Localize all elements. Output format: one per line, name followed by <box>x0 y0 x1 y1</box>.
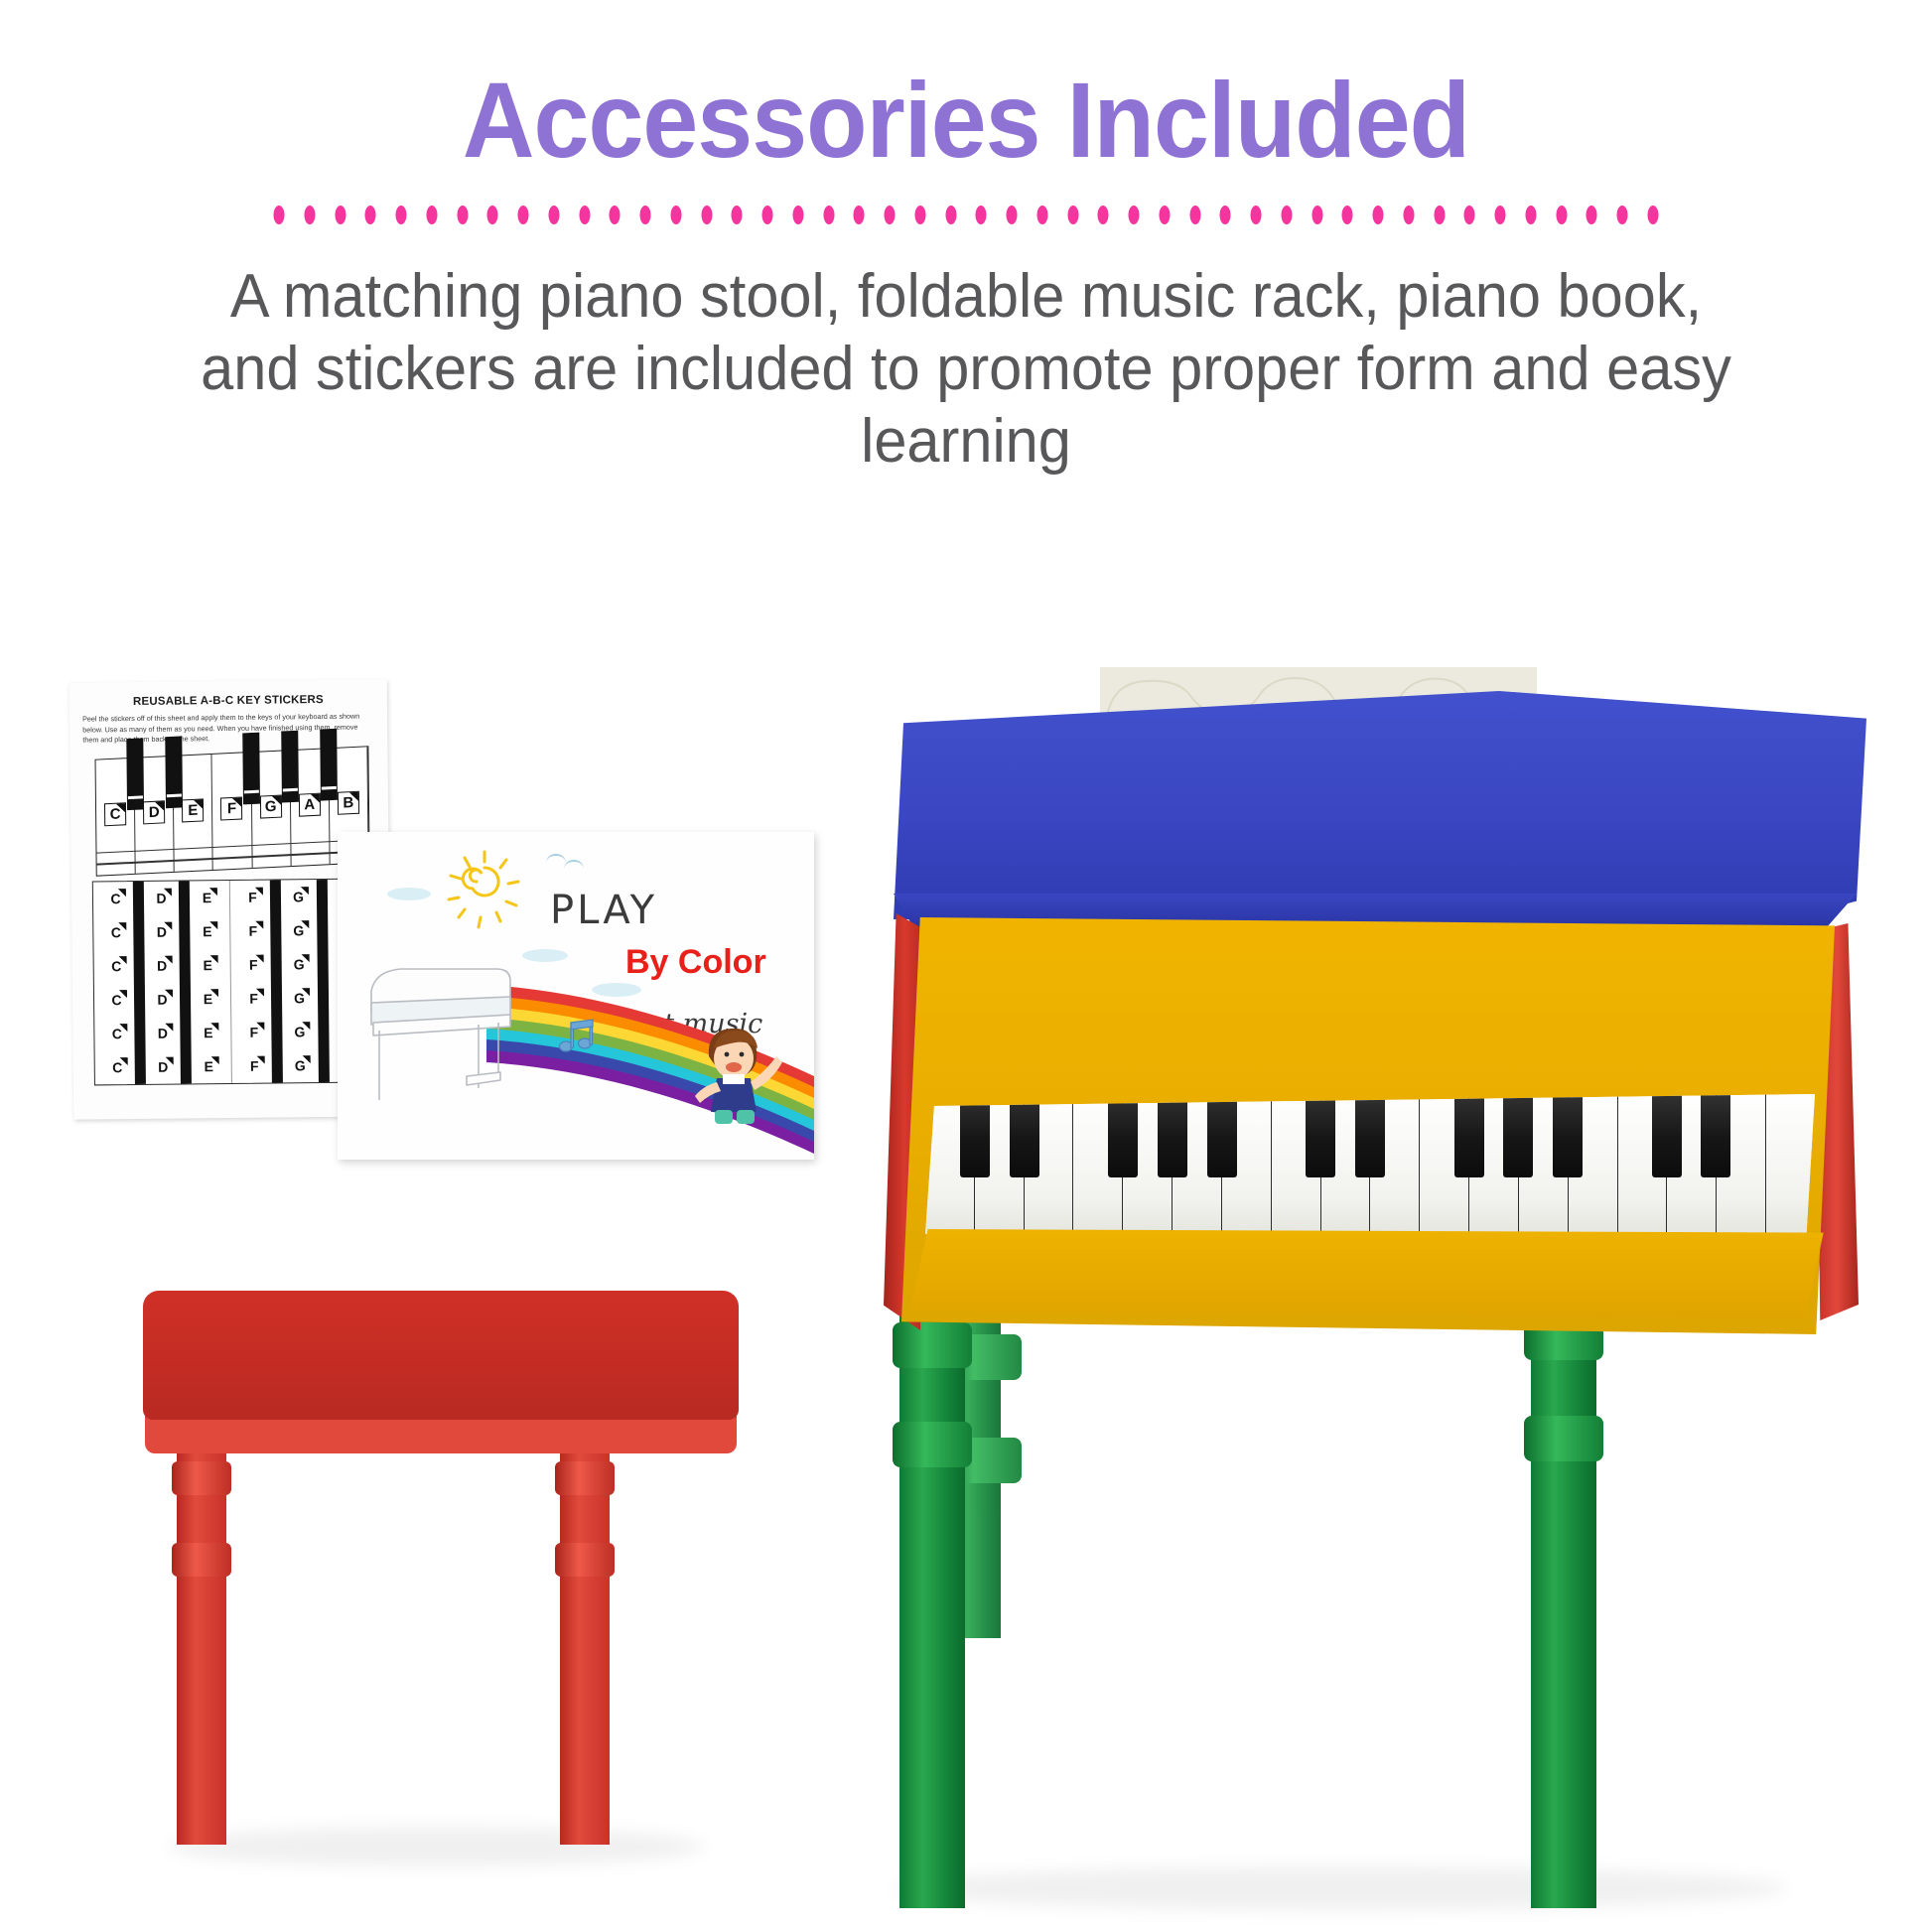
stool-seat <box>143 1291 739 1420</box>
divider-dot <box>518 206 529 224</box>
divider-dot <box>1495 206 1506 224</box>
divider-dot <box>1098 206 1109 224</box>
piano-black-key[interactable] <box>1158 1094 1187 1177</box>
sticker-grid: CCCCCCDDDDDDEEEEEEFFFFFFGGGGGGAAAAAA <box>92 879 370 1086</box>
sticker-cell: G <box>277 981 322 1015</box>
sticker-cell: G <box>276 913 321 947</box>
diagram-black-key <box>126 738 144 810</box>
key-sticker: D <box>153 1057 173 1077</box>
stool-leg <box>560 1448 610 1845</box>
piano-black-key[interactable] <box>1207 1094 1237 1177</box>
key-sticker: E <box>199 1023 218 1042</box>
divider-dot <box>1189 206 1200 224</box>
cloud-icon <box>387 888 431 900</box>
key-sticker: C <box>105 889 125 908</box>
divider-dot <box>1036 206 1047 224</box>
divider-dot <box>1129 206 1140 224</box>
divider-dot <box>701 206 712 224</box>
divider-dot <box>945 206 956 224</box>
sticker-cell: D <box>141 1049 186 1083</box>
music-book-cover: PLAY By Color My first music book <box>338 832 814 1160</box>
sticker-cell: C <box>94 983 139 1017</box>
divider-dot <box>1617 206 1628 224</box>
sticker-cell: F <box>231 981 276 1015</box>
sticker-cell: G <box>278 1048 323 1082</box>
sticker-cell: C <box>95 1050 140 1084</box>
key-sticker: E <box>198 955 217 975</box>
key-sticker: F <box>244 1056 264 1076</box>
key-sticker: D <box>152 922 172 942</box>
page-title: Accessories Included <box>68 58 1864 182</box>
piano-black-key[interactable] <box>960 1094 990 1177</box>
key-sticker: E <box>198 989 217 1009</box>
sticker-cell: F <box>231 947 276 981</box>
diagram-key-label: C <box>104 802 126 826</box>
piano-black-key[interactable] <box>1355 1094 1385 1177</box>
sticker-cell: G <box>276 880 321 913</box>
sticker-cell: D <box>139 914 184 948</box>
bird-icon <box>564 860 584 869</box>
sticker-cell: F <box>232 1048 277 1082</box>
diagram-black-key <box>281 731 299 803</box>
sticker-cell: D <box>140 982 185 1016</box>
divider-dot <box>976 206 987 224</box>
key-sticker: C <box>107 1024 127 1043</box>
divider-dot <box>1556 206 1567 224</box>
key-sticker: D <box>153 1024 173 1043</box>
key-sticker: E <box>197 888 216 907</box>
sticker-cell: F <box>230 880 275 913</box>
divider-dot <box>1007 206 1018 224</box>
piano-lid <box>874 691 1866 919</box>
divider-dot <box>548 206 559 224</box>
cartoon-boy-illustration <box>687 1017 782 1136</box>
dotted-divider <box>274 204 1659 225</box>
diagram-black-key <box>242 733 260 805</box>
key-sticker: C <box>106 990 126 1010</box>
divider-dot <box>732 206 743 224</box>
divider-dot <box>1311 206 1322 224</box>
diagram-key-label: B <box>338 791 359 815</box>
key-sticker: F <box>242 888 262 907</box>
divider-dot <box>457 206 468 224</box>
key-sticker: G <box>290 1022 310 1041</box>
book-title: PLAY <box>550 888 657 933</box>
sticker-cell: F <box>230 913 275 947</box>
sticker-cell: F <box>231 1015 276 1048</box>
toy-grand-piano <box>874 667 1866 1888</box>
key-sticker: C <box>106 956 126 976</box>
key-sticker: G <box>289 920 309 940</box>
divider-dot <box>487 206 498 224</box>
sticker-sheet-title: REUSABLE A-B-C KEY STICKERS <box>82 693 374 708</box>
diagram-black-key <box>321 729 339 801</box>
piano-black-key[interactable] <box>1454 1094 1484 1177</box>
sticker-separator <box>270 880 283 1082</box>
diagram-key-label: F <box>220 796 242 820</box>
key-sticker: G <box>289 988 309 1008</box>
divider-dot <box>304 206 315 224</box>
divider-dot <box>1525 206 1536 224</box>
divider-dot <box>823 206 834 224</box>
sticker-separator <box>179 881 192 1083</box>
diagram-key-label: A <box>299 793 321 817</box>
outline-piano-drawing <box>359 949 548 1108</box>
sticker-cell: E <box>186 948 230 982</box>
divider-dot <box>335 206 345 224</box>
sticker-cell: E <box>187 1049 231 1083</box>
sticker-cell: G <box>277 947 322 981</box>
diagram-key-label: D <box>143 800 165 824</box>
divider-dot <box>274 206 285 224</box>
piano-leg <box>1531 1293 1596 1908</box>
sticker-cell: C <box>94 949 139 983</box>
key-sticker: F <box>244 1023 264 1042</box>
key-sticker: G <box>288 887 308 906</box>
key-sticker: F <box>243 921 263 941</box>
divider-dot <box>914 206 925 224</box>
piano-black-key[interactable] <box>1652 1094 1682 1177</box>
sticker-cell: C <box>94 1017 139 1050</box>
piano-leg <box>899 1303 965 1908</box>
sticker-separator <box>133 882 146 1084</box>
divider-dot <box>1373 206 1384 224</box>
piano-black-key[interactable] <box>1010 1094 1039 1177</box>
sun-icon <box>445 850 524 929</box>
sticker-cell: D <box>139 881 184 914</box>
sticker-cell: D <box>140 948 185 982</box>
key-sticker: F <box>243 989 263 1009</box>
divider-dot <box>1067 206 1078 224</box>
book-subtitle: By Color <box>625 943 766 982</box>
divider-dot <box>1281 206 1292 224</box>
sticker-cell: E <box>185 881 229 914</box>
key-sticker: G <box>290 1055 310 1075</box>
piano-black-key[interactable] <box>1553 1094 1583 1177</box>
key-sticker: E <box>198 921 217 941</box>
key-sticker: D <box>151 889 171 908</box>
sticker-cell: E <box>186 982 230 1016</box>
divider-dot <box>1159 206 1170 224</box>
piano-black-key[interactable] <box>1306 1094 1335 1177</box>
divider-dot <box>610 206 621 224</box>
piano-black-key[interactable] <box>1503 1094 1533 1177</box>
sticker-cell: D <box>140 1016 185 1049</box>
sticker-cell: G <box>277 1015 322 1048</box>
keyboard-diagram: CDEFGAB <box>95 746 370 876</box>
diagram-black-key <box>165 736 183 808</box>
divider-dot <box>1647 206 1658 224</box>
divider-dot <box>1220 206 1231 224</box>
key-sticker: D <box>152 956 172 976</box>
sticker-cell: E <box>186 1016 230 1049</box>
music-note-icon <box>558 1019 598 1054</box>
divider-dot <box>396 206 407 224</box>
divider-dot <box>1464 206 1475 224</box>
key-sticker: G <box>289 954 309 974</box>
key-sticker: F <box>243 955 263 975</box>
divider-dot <box>365 206 376 224</box>
sticker-cell: C <box>93 882 138 915</box>
divider-dot <box>1403 206 1414 224</box>
diagram-key-label: G <box>260 795 282 819</box>
divider-dot <box>640 206 651 224</box>
sticker-separator <box>316 880 329 1082</box>
sticker-cell: E <box>185 914 229 948</box>
divider-dot <box>670 206 681 224</box>
divider-dot <box>792 206 803 224</box>
piano-keyboard <box>925 1094 1815 1243</box>
divider-dot <box>1587 206 1597 224</box>
piano-front-panel <box>909 1229 1833 1318</box>
divider-dot <box>854 206 865 224</box>
key-sticker: D <box>152 990 172 1010</box>
piano-black-key[interactable] <box>1701 1094 1730 1177</box>
bird-icon <box>546 854 566 863</box>
divider-dot <box>426 206 437 224</box>
stool-leg <box>177 1448 226 1845</box>
piano-black-key[interactable] <box>1108 1094 1138 1177</box>
sticker-cell: C <box>93 915 138 949</box>
page-description: A matching piano stool, foldable music r… <box>194 260 1737 478</box>
key-sticker: E <box>199 1056 218 1076</box>
divider-dot <box>1251 206 1262 224</box>
key-sticker: C <box>106 922 126 942</box>
divider-dot <box>762 206 773 224</box>
divider-dot <box>579 206 590 224</box>
piano-stool <box>131 1291 747 1847</box>
diagram-key-label: E <box>182 798 204 822</box>
divider-dot <box>1342 206 1353 224</box>
divider-dot <box>885 206 896 224</box>
product-feature-banner: Accessories Included A matching piano st… <box>0 0 1932 1932</box>
key-sticker: C <box>107 1057 127 1077</box>
divider-dot <box>1434 206 1445 224</box>
